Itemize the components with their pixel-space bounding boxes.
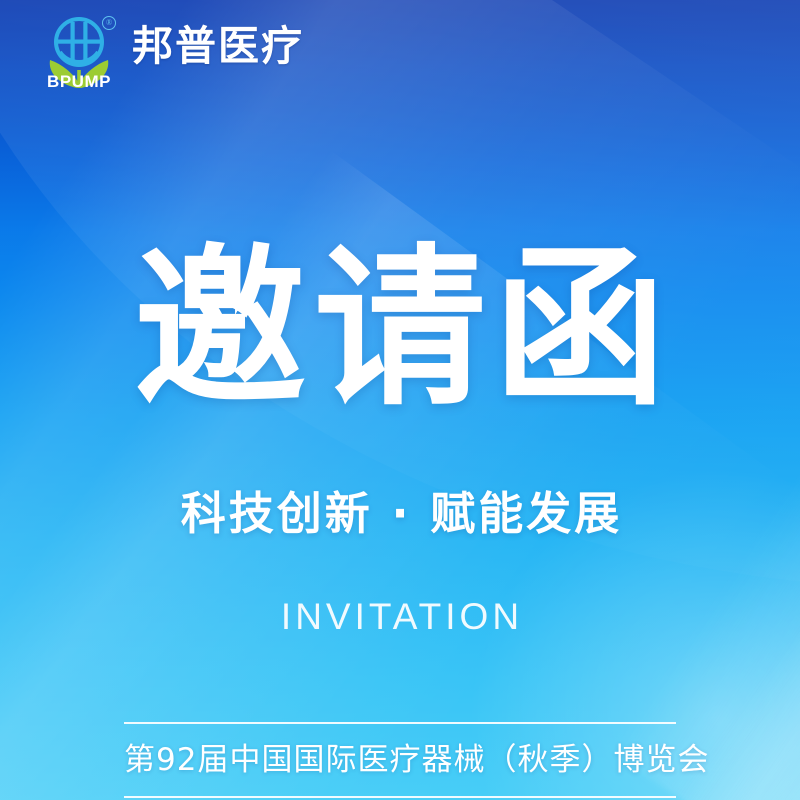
event-banner: 第92届中国国际医疗器械（秋季）博览会 bbox=[124, 722, 676, 798]
registered-trademark-icon: ® bbox=[102, 16, 116, 30]
sub-title: 科技创新 · 赋能发展 bbox=[0, 477, 800, 542]
banner-rule-bottom bbox=[124, 796, 676, 798]
poster-center-block: 邀请函 科技创新 · 赋能发展 INVITATION bbox=[0, 0, 800, 638]
main-title: 邀请函 bbox=[0, 243, 800, 415]
event-name: 第92届中国国际医疗器械（秋季）博览会 bbox=[124, 724, 676, 796]
logo-wordmark: BPUMP bbox=[44, 72, 114, 92]
brand-lockup: ® BPUMP 邦普医疗 bbox=[44, 14, 304, 92]
invitation-poster: ® BPUMP 邦普医疗 邀请函 科技创新 · 赋能发展 INVITATION … bbox=[0, 0, 800, 800]
company-name: 邦普医疗 bbox=[132, 26, 304, 67]
bpump-flower-circle-logo-icon: ® BPUMP bbox=[44, 14, 114, 92]
english-title: INVITATION bbox=[0, 596, 800, 638]
